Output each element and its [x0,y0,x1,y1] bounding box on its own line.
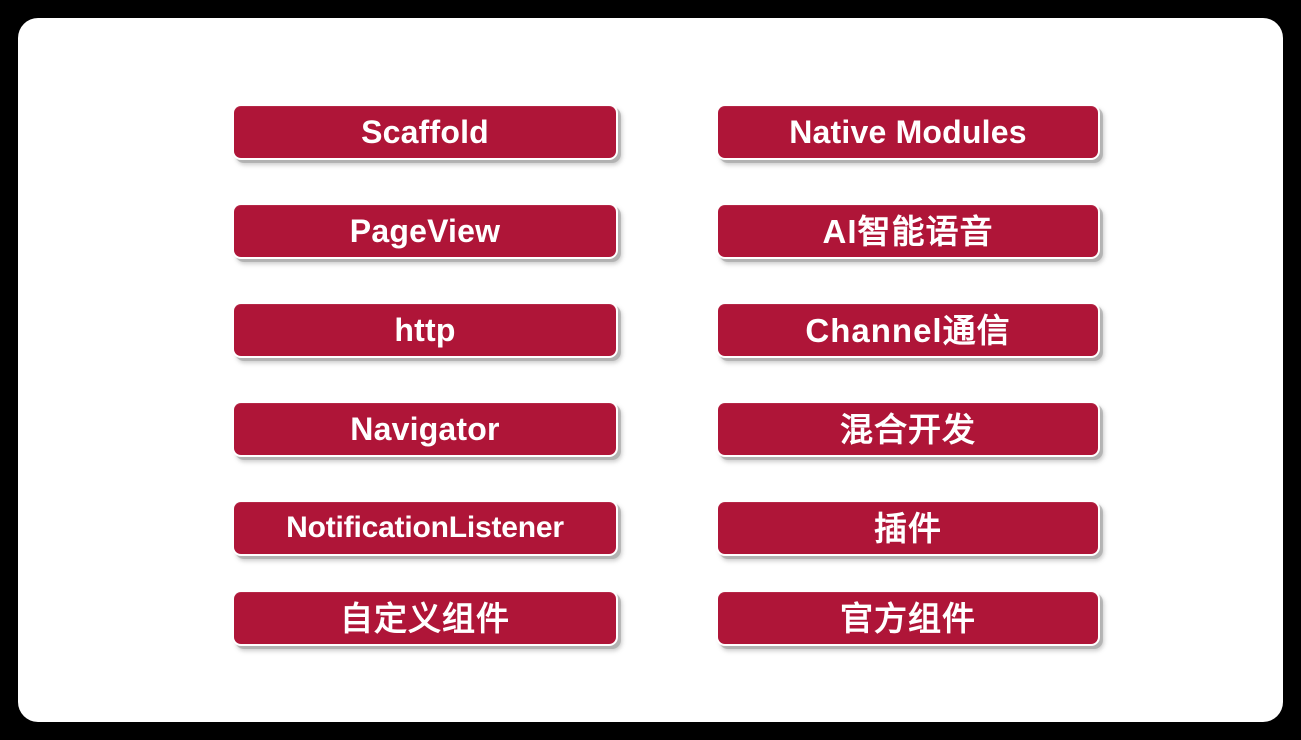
topic-button-label: AI智能语音 [823,215,994,248]
pill-shadow: AI智能语音 [716,203,1100,259]
topic-button-hybrid-development[interactable]: 混合开发 [718,403,1098,455]
topic-cell: Native Modules [716,104,1100,160]
topic-button-label: Scaffold [361,116,489,148]
topic-button-navigator[interactable]: Navigator [234,403,616,455]
topic-cell: Navigator [232,401,618,457]
topic-button-custom-widget[interactable]: 自定义组件 [234,592,616,644]
topic-button-ai-voice[interactable]: AI智能语音 [718,205,1098,257]
topic-cell: http [232,302,618,358]
pill-shadow: 官方组件 [716,590,1100,646]
topic-button-scaffold[interactable]: Scaffold [234,106,616,158]
topic-button-label: NotificationListener [286,513,564,543]
topic-cell: 混合开发 [716,401,1100,457]
pill-shadow: Navigator [232,401,618,457]
topic-button-label: Native Modules [789,116,1027,148]
pill-shadow: Channel通信 [716,302,1100,358]
topic-cell: 官方组件 [716,590,1100,646]
topic-grid: Scaffold PageView http [18,18,1283,722]
topic-cell: 插件 [716,500,1100,556]
topic-button-native-modules[interactable]: Native Modules [718,106,1098,158]
topic-button-label: http [394,314,455,346]
topic-button-channel-communication[interactable]: Channel通信 [718,304,1098,356]
outer-frame: Scaffold PageView http [0,0,1301,740]
topic-button-label: 自定义组件 [340,602,510,635]
pill-shadow: NotificationListener [232,500,618,556]
pill-shadow: Scaffold [232,104,618,160]
right-column: Native Modules AI智能语音 Channel通信 [716,18,1100,722]
topic-cell: Scaffold [232,104,618,160]
topic-cell: AI智能语音 [716,203,1100,259]
pill-shadow: Native Modules [716,104,1100,160]
pill-shadow: 混合开发 [716,401,1100,457]
content-card: Scaffold PageView http [18,18,1283,722]
topic-button-pageview[interactable]: PageView [234,205,616,257]
topic-button-label: 插件 [874,512,942,545]
topic-button-plugins[interactable]: 插件 [718,502,1098,554]
topic-button-http[interactable]: http [234,304,616,356]
topic-button-official-widgets[interactable]: 官方组件 [718,592,1098,644]
topic-button-label: Channel通信 [805,314,1010,347]
topic-cell: NotificationListener [232,500,618,556]
topic-button-label: 官方组件 [840,602,976,635]
pill-shadow: 插件 [716,500,1100,556]
topic-button-notificationlistener[interactable]: NotificationListener [234,502,616,554]
topic-button-label: PageView [350,215,500,247]
topic-cell: 自定义组件 [232,590,618,646]
topic-button-label: Navigator [350,413,499,445]
topic-button-label: 混合开发 [840,413,976,446]
pill-shadow: PageView [232,203,618,259]
pill-shadow: http [232,302,618,358]
pill-shadow: 自定义组件 [232,590,618,646]
left-column: Scaffold PageView http [232,18,618,722]
topic-cell: Channel通信 [716,302,1100,358]
topic-cell: PageView [232,203,618,259]
